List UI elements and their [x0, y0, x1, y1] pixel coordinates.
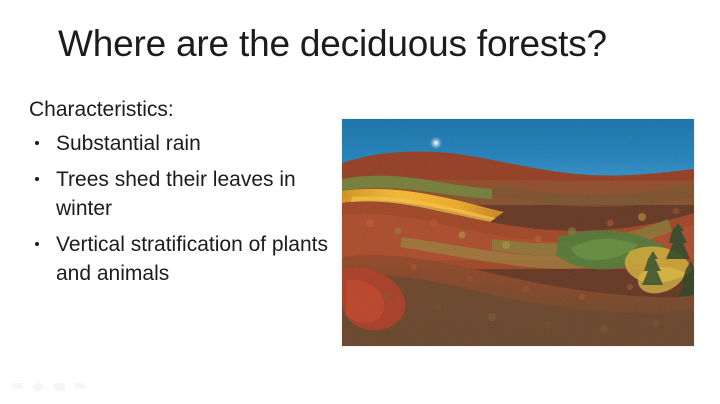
block-ghost-icon [54, 383, 65, 391]
characteristics-list: Substantial rain Trees shed their leaves… [29, 129, 335, 288]
bullet-dot-icon [35, 242, 39, 246]
list-item-label: Vertical stratification of plants and an… [56, 233, 328, 285]
characteristics-label: Characteristics: [29, 96, 335, 124]
slide-body: Characteristics: Substantial rain Trees … [29, 96, 335, 295]
ghost-toolbar [12, 379, 92, 395]
autumn-forest-illustration [342, 119, 694, 346]
list-item: Vertical stratification of plants and an… [29, 230, 335, 288]
presentation-slide: Where are the deciduous forests? Charact… [0, 0, 720, 404]
autumn-forest-photo [342, 119, 694, 346]
list-item-label: Substantial rain [56, 132, 201, 155]
list-item: Trees shed their leaves in winter [29, 165, 335, 223]
bullet-dot-icon [35, 141, 39, 145]
wedge-ghost-icon [74, 383, 85, 389]
list-item-label: Trees shed their leaves in winter [56, 168, 296, 220]
slash-ghost-icon [32, 381, 45, 393]
pen-ghost-icon [11, 383, 23, 389]
bullet-dot-icon [35, 177, 39, 181]
slide-title: Where are the deciduous forests? [58, 22, 678, 66]
list-item: Substantial rain [29, 129, 335, 158]
